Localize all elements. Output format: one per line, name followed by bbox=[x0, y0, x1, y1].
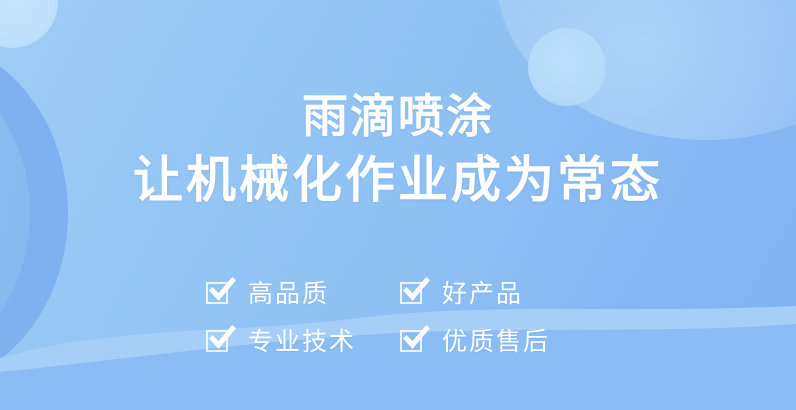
feature-item-good-product: 好产品 bbox=[400, 274, 600, 310]
feature-list: 高品质 好产品 bbox=[206, 268, 626, 364]
feature-item-professional-technology: 专业技术 bbox=[206, 322, 400, 358]
feature-item-high-quality: 高品质 bbox=[206, 274, 400, 310]
headline-line-1: 雨滴喷涂 bbox=[0, 86, 796, 147]
headline-line-2: 让机械化作业成为常态 bbox=[0, 147, 796, 213]
banner-headline: 雨滴喷涂 让机械化作业成为常态 bbox=[0, 86, 796, 213]
check-box-icon bbox=[206, 279, 232, 305]
promo-banner: 雨滴喷涂 让机械化作业成为常态 高品质 bbox=[0, 0, 796, 410]
check-box-icon bbox=[206, 327, 232, 353]
check-box-icon bbox=[400, 327, 426, 353]
feature-item-quality-after-sales: 优质售后 bbox=[400, 322, 600, 358]
feature-label: 高品质 bbox=[248, 274, 329, 310]
feature-label: 优质售后 bbox=[442, 322, 550, 358]
feature-label: 专业技术 bbox=[248, 322, 356, 358]
feature-row: 高品质 好产品 bbox=[206, 268, 626, 316]
feature-label: 好产品 bbox=[442, 274, 523, 310]
banner-content: 雨滴喷涂 让机械化作业成为常态 高品质 bbox=[0, 0, 796, 410]
feature-row: 专业技术 优质售后 bbox=[206, 316, 626, 364]
check-box-icon bbox=[400, 279, 426, 305]
